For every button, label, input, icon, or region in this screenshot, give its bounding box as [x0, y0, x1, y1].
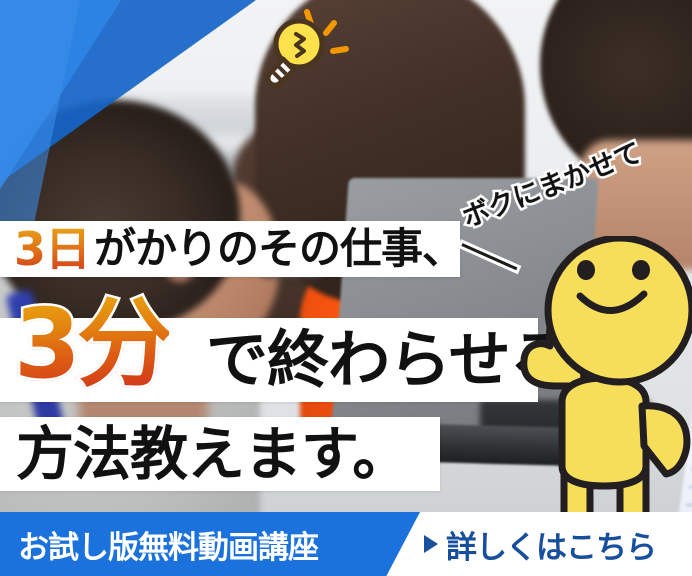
play-triangle-icon: [424, 535, 438, 553]
headline-line-3: 方法教えます。: [16, 425, 409, 483]
lightbulb-base: [268, 59, 294, 85]
cta-link-label[interactable]: 詳しくはこちら: [446, 522, 656, 567]
cta-badge-label[interactable]: お試し版無料動画講座: [18, 512, 318, 576]
headline-accent-3days: 3日: [14, 226, 90, 272]
headline-band-1: 3日 がかりのその仕事、: [0, 221, 460, 277]
yellow-smiley-mascot: [494, 236, 692, 526]
cta-link[interactable]: 詳しくはこちら: [424, 512, 656, 576]
ad-banner: 3日 がかりのその仕事、 で終わらせる 3分 3分 方法教えます。 ボクにまかせ…: [0, 0, 692, 576]
cta-bar[interactable]: お試し版無料動画講座 詳しくはこちら: [0, 512, 692, 576]
lightbulb-icon: [258, 6, 362, 90]
headline-line-1: がかりのその仕事、: [94, 228, 463, 270]
headline-accent-3min-stroke: 3分: [14, 296, 169, 392]
headline-band-3: 方法教えます。: [0, 417, 440, 491]
blue-corner-ribbon: [0, 0, 300, 230]
mascot-body: [562, 378, 646, 486]
